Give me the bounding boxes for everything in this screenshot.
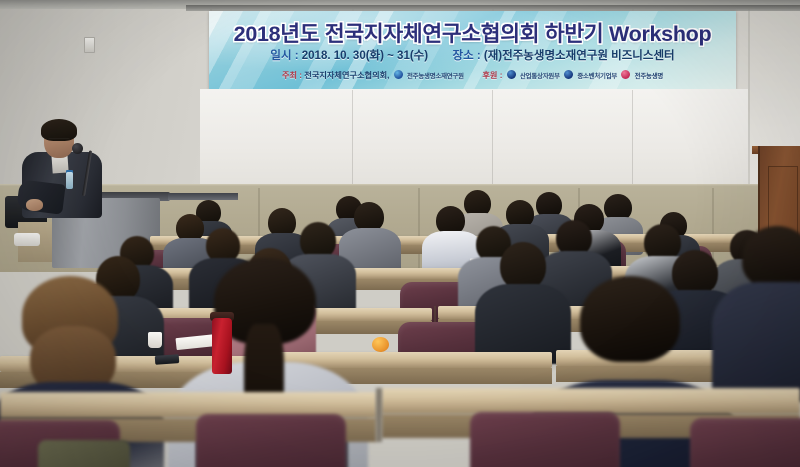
- speaker-hand: [26, 199, 43, 211]
- screen-seam: [632, 90, 633, 184]
- microphone-icon: [72, 143, 83, 154]
- venue-label: 장소 :: [453, 50, 481, 62]
- podium-rail: [168, 193, 238, 200]
- projection-screen: [200, 89, 748, 185]
- water-bottle-icon: [66, 172, 73, 189]
- wall-seam: [748, 0, 750, 196]
- photo-scene: 2018년도 전국지자체연구소협의회 하반기 Workshop 일시 : 201…: [0, 0, 800, 467]
- screen-seam: [492, 90, 493, 184]
- sponsor-2: 중소벤처기업부: [577, 73, 617, 80]
- date-value: 2018. 10. 30(화) ~ 31(수): [302, 50, 428, 62]
- banner-organizer-line: 주최 : 전국지자체연구소협의회, 전주농생명소재연구원 후원 : 산업통상자원…: [209, 69, 736, 81]
- eyeglasses-icon: [48, 138, 70, 143]
- sme-ministry-logo-icon: [564, 70, 573, 79]
- wall-fixture-icon: [84, 37, 95, 53]
- banner-subline: 일시 : 2018. 10. 30(화) ~ 31(수) 장소 : (재)전주농…: [209, 47, 736, 63]
- chair: [470, 412, 620, 467]
- sponsor-label: 후원 :: [482, 71, 502, 80]
- red-thermos-prop: [212, 318, 232, 374]
- date-label: 일시 :: [270, 50, 298, 62]
- smartphone-prop: [155, 354, 180, 365]
- host-value: 전국지자체연구소협의회,: [304, 71, 389, 80]
- sponsor-3: 전주농생명: [635, 73, 663, 80]
- paper-cup-prop: [148, 332, 162, 348]
- desk-split: [376, 388, 382, 442]
- desk-row-1b: [382, 388, 800, 414]
- chair: [196, 414, 346, 467]
- event-banner: 2018년도 전국지자체연구소협의회 하반기 Workshop 일시 : 201…: [209, 11, 736, 89]
- host-label: 주최 :: [282, 71, 302, 80]
- venue-value: (재)전주농생명소재연구원 비즈니스센터: [484, 50, 675, 62]
- government-logo-icon: [507, 70, 516, 79]
- uam-logo-icon: [394, 70, 403, 79]
- backpack-prop: [38, 440, 130, 467]
- host-org2: 전주농생명소재연구원: [407, 73, 464, 80]
- screen-seam: [352, 90, 353, 184]
- desk-phone-icon: [14, 233, 40, 246]
- sponsor-1: 산업통상자원부: [520, 73, 560, 80]
- tangerine-prop: [372, 337, 389, 352]
- speaker-arm: [16, 179, 65, 214]
- jeonju-logo-icon: [621, 70, 630, 79]
- banner-title: 2018년도 전국지자체연구소협의회 하반기 Workshop: [209, 17, 736, 48]
- chair: [690, 418, 800, 467]
- wainscot-seam: [418, 188, 420, 272]
